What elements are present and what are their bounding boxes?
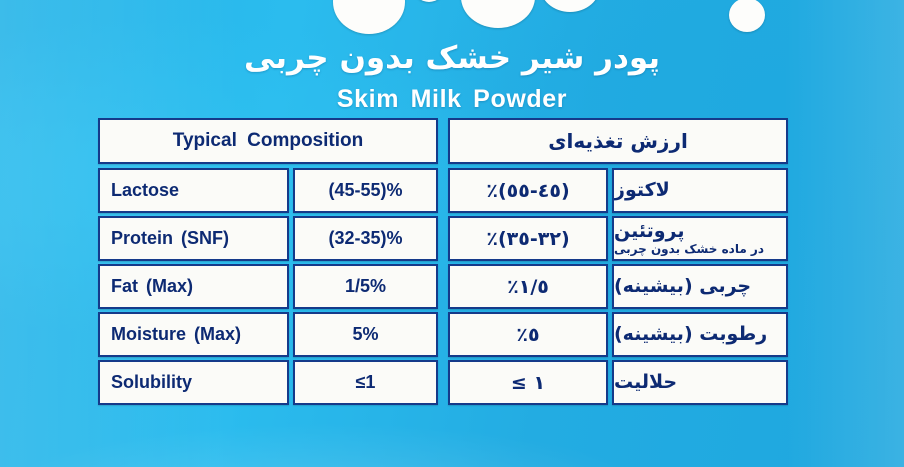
- composition-name-cell: Lactose: [98, 168, 289, 213]
- table-row: (٣٢-٣٥)٪پروتئیندر ماده خشک بدون چربی: [448, 216, 788, 261]
- table-row: Lactose(45-55)%: [98, 168, 438, 213]
- table-row: Moisture (Max)5%: [98, 312, 438, 357]
- table-row: (٤٥-٥٥)٪لاکتوز: [448, 168, 788, 213]
- nutrition-value-rows: (٤٥-٥٥)٪لاکتوز(٣٢-٣٥)٪پروتئیندر ماده خشک…: [448, 168, 788, 405]
- nutrition-name-subtext: در ماده خشک بدون چربی: [614, 243, 764, 256]
- composition-value-cell: 5%: [293, 312, 438, 357]
- nutrition-name-cell: چربی (بیشینه): [612, 264, 788, 309]
- composition-value-cell: (32-35)%: [293, 216, 438, 261]
- table-row: Solubility≤1: [98, 360, 438, 405]
- nutrition-value-cell: (٣٢-٣٥)٪: [448, 216, 608, 261]
- nutrition-name-label: رطوبت (بیشینه): [614, 325, 767, 345]
- typical-composition-table: Typical Composition Lactose(45-55)%Prote…: [98, 118, 438, 405]
- composition-value-cell: (45-55)%: [293, 168, 438, 213]
- nutrition-value-cell: (٤٥-٥٥)٪: [448, 168, 608, 213]
- table-row: ١/٥٪چربی (بیشینه): [448, 264, 788, 309]
- typical-composition-header: Typical Composition: [98, 118, 438, 164]
- composition-value-cell: ≤1: [293, 360, 438, 405]
- product-title-english: Skim Milk Powder: [0, 85, 904, 114]
- nutrition-name-cell: رطوبت (بیشینه): [612, 312, 788, 357]
- nutrition-value-cell: ٥٪: [448, 312, 608, 357]
- table-row: ٥٪رطوبت (بیشینه): [448, 312, 788, 357]
- nutrition-value-table: ارزش تغذیه‌ای (٤٥-٥٥)٪لاکتوز(٣٢-٣٥)٪پروت…: [448, 118, 788, 405]
- composition-name-cell: Protein (SNF): [98, 216, 289, 261]
- nutrition-value-header: ارزش تغذیه‌ای: [448, 118, 788, 164]
- table-row: Protein (SNF)(32-35)%: [98, 216, 438, 261]
- composition-value-cell: 1/5%: [293, 264, 438, 309]
- nutrition-value-cell: ١ ≥: [448, 360, 608, 405]
- nutrition-name-cell: لاکتوز: [612, 168, 788, 213]
- product-title-persian: پودر شیر خشک بدون چربی: [0, 40, 904, 76]
- composition-name-cell: Solubility: [98, 360, 289, 405]
- nutrition-name-label: لاکتوز: [614, 181, 670, 201]
- typical-composition-rows: Lactose(45-55)%Protein (SNF)(32-35)%Fat …: [98, 168, 438, 405]
- nutrition-name-cell: پروتئیندر ماده خشک بدون چربی: [612, 216, 788, 261]
- nutrition-value-cell: ١/٥٪: [448, 264, 608, 309]
- table-row: Fat (Max)1/5%: [98, 264, 438, 309]
- nutrition-name-label: چربی (بیشینه): [614, 277, 751, 297]
- nutrition-name-label: حلالیت: [614, 373, 677, 393]
- nutrition-name-label: پروتئین: [614, 222, 685, 242]
- nutrition-name-cell: حلالیت: [612, 360, 788, 405]
- product-label-canvas: پودر شیر خشک بدون چربی Skim Milk Powder …: [0, 0, 904, 467]
- composition-name-cell: Moisture (Max): [98, 312, 289, 357]
- composition-name-cell: Fat (Max): [98, 264, 289, 309]
- nutrition-tables: Typical Composition Lactose(45-55)%Prote…: [98, 118, 788, 405]
- table-row: ١ ≥حلالیت: [448, 360, 788, 405]
